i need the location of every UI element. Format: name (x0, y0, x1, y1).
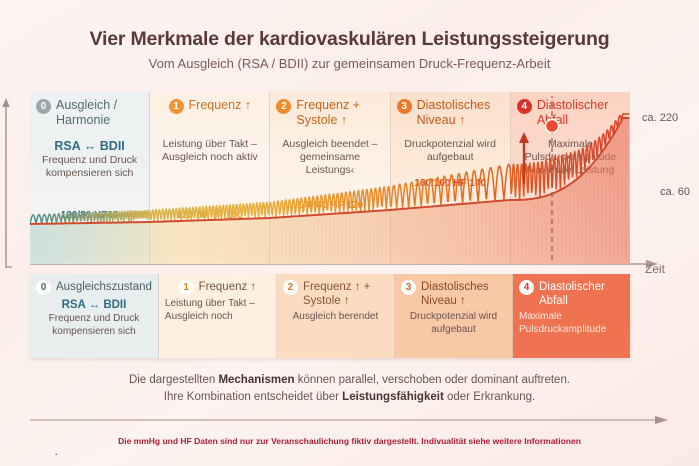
phase-text-3: Druckpotenzial wird aufgebaut (396, 138, 505, 164)
phase-body-4: Maximale Pulsdruckamplitude Maximale Lei… (511, 138, 630, 177)
footer-l2-c: oder Erkrankung. (444, 391, 535, 403)
phase-header-0: 0 Ausgleich / Harmonie (30, 98, 149, 128)
footer-line-1: Die dargestellten Mechanismen können par… (0, 372, 699, 389)
summary-badge-3: 3 (401, 280, 416, 295)
summary-body-4: Maximale Pulsdruckamplitude (519, 311, 624, 336)
page-subtitle: Vom Ausgleich (RSA / BDII) zur gemeinsam… (0, 56, 699, 71)
phase-body-0: RSA ↔ BDII Frequenz und Druck kompensier… (30, 138, 149, 180)
phase-header-1: 1 Frequenz ↑ (150, 98, 269, 114)
recovery-annotation: ca. 60 (660, 186, 690, 198)
phase-column-0: 0 Ausgleich / Harmonie RSA ↔ BDII Freque… (30, 92, 150, 264)
phase-body-2: Ausgleich beendet – gemeinsame Leistungs… (270, 138, 389, 177)
summary-title-3: Diastolisches Niveau ↑ (421, 280, 506, 308)
summary-body-0: Frequenz und Druck kompensieren sich (36, 313, 152, 338)
phase-title-0: Ausgleich / Harmonie (56, 98, 143, 128)
phase-badge-1: 1 (169, 99, 184, 114)
footer-l2-b: Leistungsfähigkeit (342, 391, 444, 403)
phase-lead-0: RSA ↔ BDII (35, 138, 144, 154)
disclaimer: Die mmHg und HF Daten sind nur zur Veran… (0, 436, 699, 458)
phase-vitals-3: 180/100 HF 140 (391, 178, 510, 189)
summary-badge-0: 0 (36, 280, 51, 295)
phase-badge-3: 3 (397, 99, 412, 114)
phase-title-3: Diastolisches Niveau ↑ (417, 98, 504, 128)
summary-body-1: Leistung über Takt – Ausgleich noch (165, 298, 270, 323)
page-title: Vier Merkmale der kardiovaskulären Leist… (0, 28, 699, 51)
summary-phase-0: 0 Ausgleichszustand RSA ↔ BDII Frequenz … (30, 274, 159, 358)
summary-badge-1: 1 (179, 280, 194, 295)
phase-body-3: Druckpotenzial wird aufgebaut (391, 138, 510, 164)
summary-header-2: 2 Frequenz ↑ + Systole ↑ (283, 280, 388, 308)
footer-line-2: Ihre Kombination entscheidet über Leistu… (0, 389, 699, 406)
summary-header-1: 1 Frequenz ↑ (165, 280, 270, 295)
phase-vitals-1: 120/80 HF 100 (150, 210, 269, 221)
phase-badge-2: 2 (276, 99, 291, 114)
summary-body-3: Druckpotenzial wird aufgebaut (401, 311, 506, 336)
summary-header-4: 4 Diastolischer Abfall (519, 280, 624, 308)
phase-title-2: Frequenz + Systole ↑ (296, 98, 383, 128)
phase-badge-0: 0 (36, 99, 51, 114)
phase-summary-band: 0 Ausgleichszustand RSA ↔ BDII Frequenz … (30, 274, 630, 358)
footer-l1-c: können parallel, verschoben oder dominan… (295, 374, 571, 386)
summary-title-1: Frequenz ↑ (199, 280, 257, 294)
summary-badge-4: 4 (519, 280, 534, 295)
phase-header-2: 2 Frequenz + Systole ↑ (270, 98, 389, 128)
summary-sub-0: RSA ↔ BDII (36, 298, 152, 313)
phase-vitals-2: 140/80 HF 120 (270, 200, 389, 211)
footer-l1-b: Mechanismen (218, 374, 294, 386)
x-axis-label: Zeit (645, 262, 665, 276)
phase-body-1: Leistung über Takt – Ausgleich noch akti… (150, 138, 269, 164)
phase-text-0: Frequenz und Druck kompensieren sich (35, 154, 144, 180)
phase-columns-top: 0 Ausgleich / Harmonie RSA ↔ BDII Freque… (30, 92, 630, 264)
phase-header-4: 4 Diastolischer Abfall (511, 98, 630, 128)
phase-title-1: Frequenz ↑ (189, 98, 252, 113)
peak-annotation: ca. 220 (642, 112, 678, 124)
summary-phase-1: 1 Frequenz ↑ Leistung über Takt – Ausgle… (159, 274, 277, 358)
phase-badge-4: 4 (517, 99, 532, 114)
summary-title-4: Diastolischer Abfall (539, 280, 624, 308)
summary-title-0: Ausgleichszustand (56, 280, 152, 294)
footer-text: Die dargestellten Mechanismen können par… (0, 372, 699, 406)
phase-title-4: Diastolischer Abfall (537, 98, 624, 128)
phase-column-4: 4 Diastolischer Abfall Maximale Pulsdruc… (511, 92, 630, 264)
summary-phase-3: 3 Diastolisches Niveau ↑ Druckpotenzial … (395, 274, 513, 358)
phase-vitals-0: 120/80 HF60 (30, 210, 149, 221)
summary-header-3: 3 Diastolisches Niveau ↑ (401, 280, 506, 308)
summary-title-2: Frequenz ↑ + Systole ↑ (303, 280, 388, 308)
summary-phase-4: 4 Diastolischer Abfall Maximale Pulsdruc… (513, 274, 630, 358)
phase-text-1: Leistung über Takt – Ausgleich noch akti… (155, 138, 264, 164)
y-axis-arrow (0, 96, 12, 268)
chart-area: 0 Ausgleich / Harmonie RSA ↔ BDII Freque… (30, 92, 630, 264)
phase-text-4: Maximale Pulsdruckamplitude Maximale Lei… (516, 138, 625, 177)
phase-column-1: 1 Frequenz ↑ Leistung über Takt – Ausgle… (150, 92, 270, 264)
phase-column-2: 2 Frequenz + Systole ↑ Ausgleich beendet… (270, 92, 390, 264)
summary-header-0: 0 Ausgleichszustand (36, 280, 152, 295)
phase-column-3: 3 Diastolisches Niveau ↑ Druckpotenzial … (391, 92, 511, 264)
disclaimer-text: Die mmHg und HF Daten sind nur zur Veran… (118, 436, 581, 446)
summary-body-2: Ausgleich berendet (283, 311, 388, 324)
summary-badge-2: 2 (283, 280, 298, 295)
summary-phase-2: 2 Frequenz ↑ + Systole ↑ Ausgleich beren… (277, 274, 395, 358)
infographic-root: Vier Merkmale der kardiovaskulären Leist… (0, 0, 699, 466)
disclaimer-dot: . (55, 447, 699, 458)
footer-l1-a: Die dargestellten (129, 374, 219, 386)
phase-header-3: 3 Diastolisches Niveau ↑ (391, 98, 510, 128)
footer-arrow (30, 412, 670, 422)
phase-text-2: Ausgleich beendet – gemeinsame Leistungs… (275, 138, 384, 177)
footer-l2-a: Ihre Kombination entscheidet über (164, 391, 342, 403)
